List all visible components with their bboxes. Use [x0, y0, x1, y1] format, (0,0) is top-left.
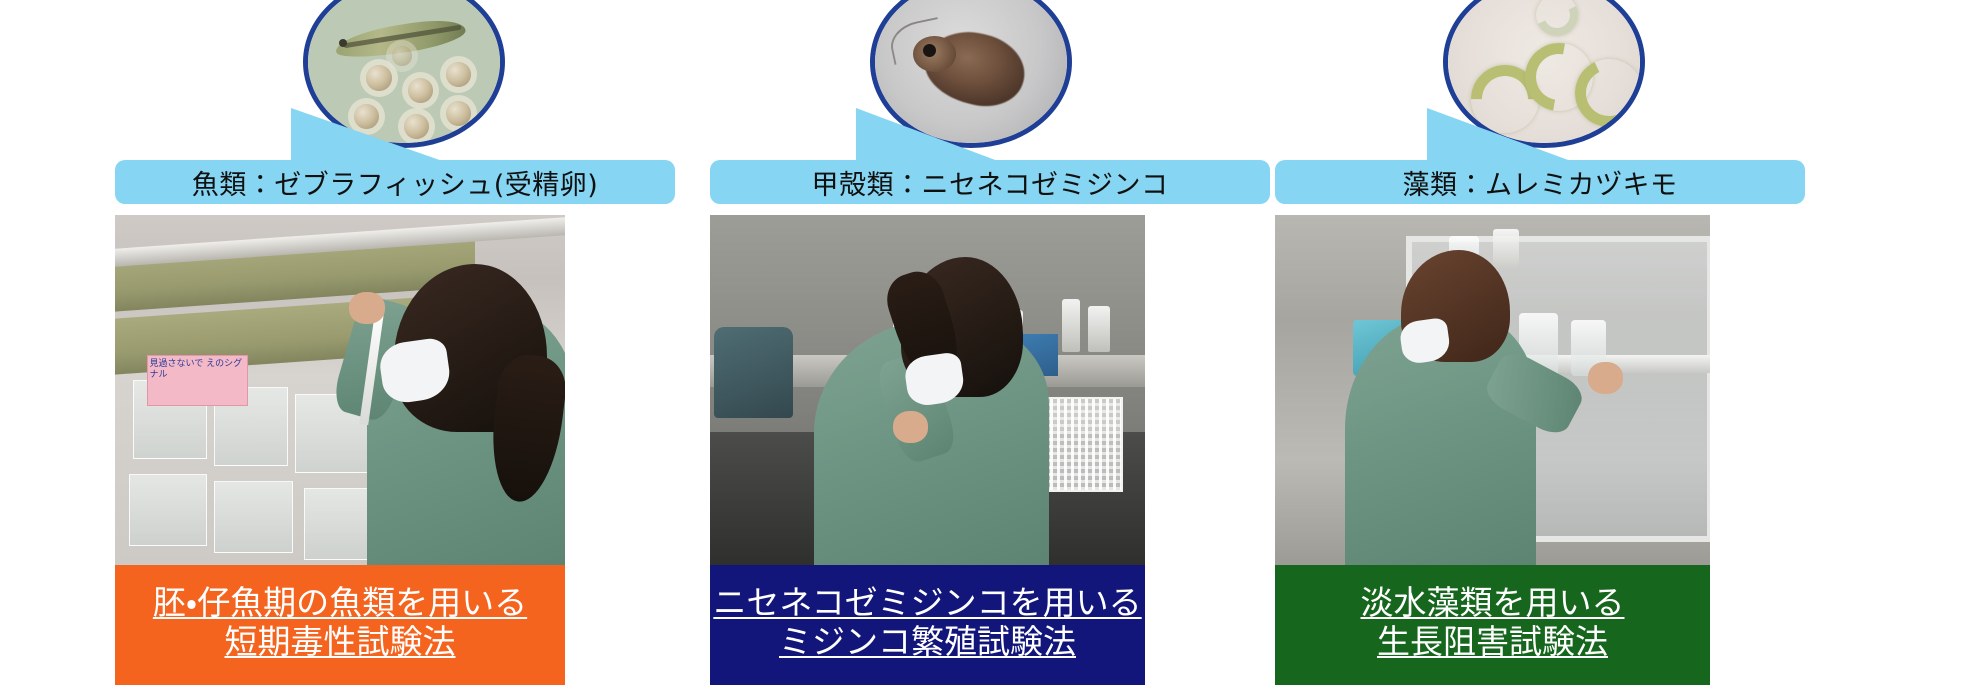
- lab-photo-crustacean: [710, 215, 1145, 565]
- caption-line-2: 短期毒性試験法: [225, 623, 456, 662]
- caption-line-2: 生長阻害試験法: [1377, 623, 1608, 662]
- bubble-tail-algae: [1427, 108, 1579, 164]
- infographic-board: 魚類：ゼブラフィッシュ(受精卵) 見過さないで えのシグナル: [0, 0, 1980, 700]
- caption-fish: 胚・仔魚期の魚類を用いる 短期毒性試験法: [115, 565, 565, 685]
- bubble-label-crustacean: 甲殻類：ニセネコゼミジンコ: [812, 163, 1169, 202]
- lab-photo-algae: [1275, 215, 1710, 565]
- bubble-tail-crustacean: [856, 108, 1006, 164]
- bubble-tail-fish: [291, 108, 451, 164]
- column-algae: 藻類：ムレミカヅキモ 淡水藻類を用いる 生長阻害試験法: [1275, 0, 1835, 700]
- caption-line-1: 淡水藻類を用いる: [1361, 584, 1625, 623]
- tank-warning-sign: 見過さないで えのシグナル: [147, 355, 248, 406]
- column-crustacean: 甲殻類：ニセネコゼミジンコ: [710, 0, 1270, 700]
- caption-line-1: ニセネコゼミジンコを用いる: [713, 584, 1141, 623]
- bubble-fish: 魚類：ゼブラフィッシュ(受精卵): [115, 160, 675, 204]
- caption-crustacean: ニセネコゼミジンコを用いる ミジンコ繁殖試験法: [710, 565, 1145, 685]
- bubble-label-algae: 藻類：ムレミカヅキモ: [1403, 163, 1678, 202]
- lab-photo-fish: 見過さないで えのシグナル: [115, 215, 565, 565]
- bubble-crustacean: 甲殻類：ニセネコゼミジンコ: [710, 160, 1270, 204]
- bubble-algae: 藻類：ムレミカヅキモ: [1275, 160, 1805, 204]
- column-fish: 魚類：ゼブラフィッシュ(受精卵) 見過さないで えのシグナル: [115, 0, 675, 700]
- caption-line-1: 胚・仔魚期の魚類を用いる: [153, 584, 527, 623]
- bubble-label-fish: 魚類：ゼブラフィッシュ(受精卵): [192, 163, 599, 202]
- tank-warning-sign-text: 見過さないで えのシグナル: [148, 356, 247, 385]
- caption-line-2: ミジンコ繁殖試験法: [779, 623, 1076, 662]
- caption-algae: 淡水藻類を用いる 生長阻害試験法: [1275, 565, 1710, 685]
